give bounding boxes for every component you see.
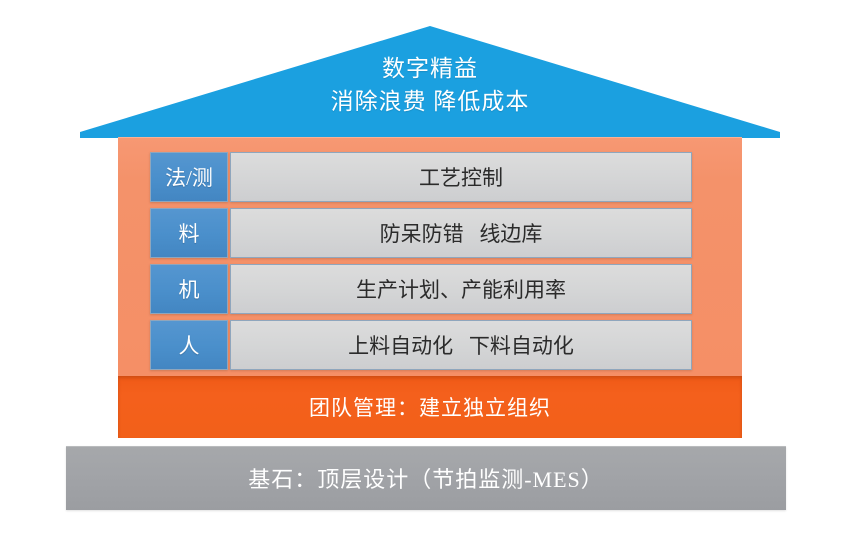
pillar-label-machine: 机 xyxy=(150,264,228,314)
diagram-canvas: 数字精益 消除浪费 降低成本 法/测 工艺控制 料 防呆防错 线边库 机 生产计… xyxy=(0,0,852,534)
pillar-row[interactable]: 法/测 工艺控制 xyxy=(150,152,692,202)
pillar-row[interactable]: 人 上料自动化 下料自动化 xyxy=(150,320,692,370)
pillar-label-material: 料 xyxy=(150,208,228,258)
pillar-row[interactable]: 料 防呆防错 线边库 xyxy=(150,208,692,258)
pillar-row[interactable]: 机 生产计划、产能利用率 xyxy=(150,264,692,314)
pillar-value-material: 防呆防错 线边库 xyxy=(230,208,692,258)
pillar-value-machine: 生产计划、产能利用率 xyxy=(230,264,692,314)
team-management-band: 团队管理：建立独立组织 xyxy=(118,376,742,438)
pillar-label-method-measure: 法/测 xyxy=(150,152,228,202)
pillar-label-people: 人 xyxy=(150,320,228,370)
pillar-value-people: 上料自动化 下料自动化 xyxy=(230,320,692,370)
foundation-bar: 基石：顶层设计（节拍监测-MES） xyxy=(66,446,786,510)
roof-shape xyxy=(80,26,780,138)
pillar-value-method-measure: 工艺控制 xyxy=(230,152,692,202)
pillar-row-list: 法/测 工艺控制 料 防呆防错 线边库 机 生产计划、产能利用率 人 上料自动化… xyxy=(150,152,692,370)
